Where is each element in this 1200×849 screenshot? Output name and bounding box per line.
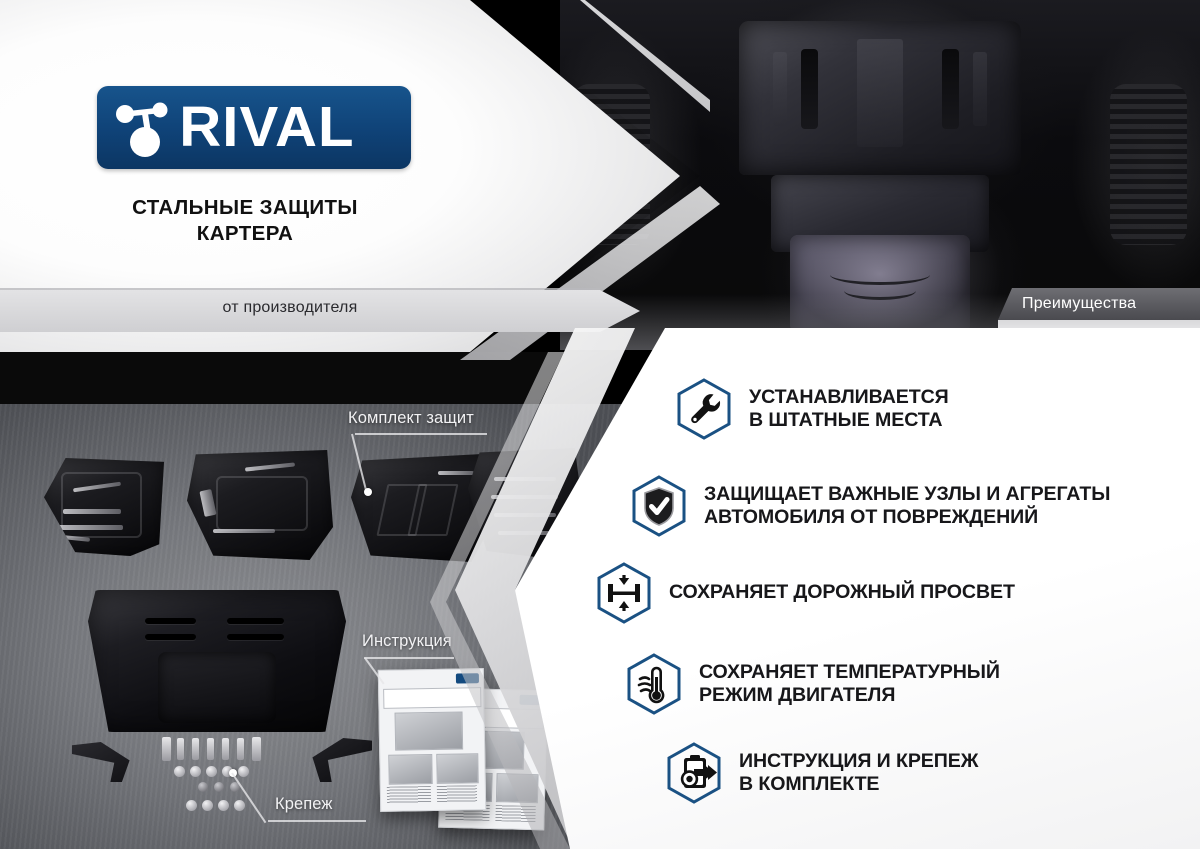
- main-engine-skid-plate: [88, 590, 346, 732]
- advantage-item-1: УСТАНАВЛИВАЕТСЯ В ШТАТНЫЕ МЕСТА: [676, 378, 949, 440]
- advantage-item-3: СОХРАНЯЕТ ДОРОЖНЫЙ ПРОСВЕТ: [596, 562, 1015, 624]
- callout-dot-set: [364, 488, 372, 496]
- wrench-icon: [676, 378, 732, 440]
- ground-clearance-icon: [596, 562, 652, 624]
- skid-plate-part-2: [187, 450, 333, 560]
- page-title: СТАЛЬНЫЕ ЗАЩИТЫ КАРТЕРА: [0, 195, 490, 247]
- page-subtitle: от производителя: [0, 299, 580, 317]
- page-title-line-1: СТАЛЬНЫЕ ЗАЩИТЫ: [0, 195, 490, 221]
- callout-line-set: [355, 433, 487, 435]
- advantage-text-2: ЗАЩИЩАЕТ ВАЖНЫЕ УЗЛЫ И АГРЕГАТЫ АВТОМОБИ…: [704, 483, 1110, 530]
- molecule-icon: [111, 97, 183, 159]
- advantage-item-4: СОХРАНЯЕТ ТЕМПЕРАТУРНЫЙ РЕЖИМ ДВИГАТЕЛЯ: [626, 653, 1000, 715]
- page-title-line-2: КАРТЕРА: [0, 221, 490, 247]
- advantages-tab[interactable]: Преимущества: [998, 288, 1200, 320]
- thermometer-icon: [626, 653, 682, 715]
- advantage-text-4: СОХРАНЯЕТ ТЕМПЕРАТУРНЫЙ РЕЖИМ ДВИГАТЕЛЯ: [699, 661, 1000, 708]
- callout-label-fasteners: Крепеж: [275, 795, 333, 814]
- header-strip-divider: [0, 288, 600, 290]
- advantage-item-5: ИНСТРУКЦИЯ И КРЕПЕЖ В КОМПЛЕКТЕ: [666, 742, 978, 804]
- logo-wordmark: RIVAL: [179, 99, 354, 156]
- skid-plate-sump-recess: [158, 652, 277, 723]
- shield-check-icon: [631, 475, 687, 537]
- clipboard-bolt-icon: [666, 742, 722, 804]
- advantage-item-2: ЗАЩИЩАЕТ ВАЖНЫЕ УЗЛЫ И АГРЕГАТЫ АВТОМОБИ…: [631, 475, 1110, 537]
- callout-line-fasteners: [268, 820, 366, 822]
- rival-logo: RIVAL: [97, 86, 411, 169]
- advantage-text-1: УСТАНАВЛИВАЕТСЯ В ШТАТНЫЕ МЕСТА: [749, 386, 949, 433]
- advantages-tab-label: Преимущества: [1022, 295, 1136, 313]
- callout-line-instruction: [364, 657, 454, 659]
- tire-right: [1110, 84, 1187, 245]
- installed-engine-skid-plate: [739, 21, 1021, 175]
- advantage-text-3: СОХРАНЯЕТ ДОРОЖНЫЙ ПРОСВЕТ: [669, 581, 1015, 605]
- advantage-text-5: ИНСТРУКЦИЯ И КРЕПЕЖ В КОМПЛЕКТЕ: [739, 750, 978, 797]
- promo-banner: Комплект защит: [0, 0, 1200, 849]
- callout-label-instruction: Инструкция: [362, 632, 452, 651]
- callout-label-skid-set: Комплект защит: [348, 409, 474, 428]
